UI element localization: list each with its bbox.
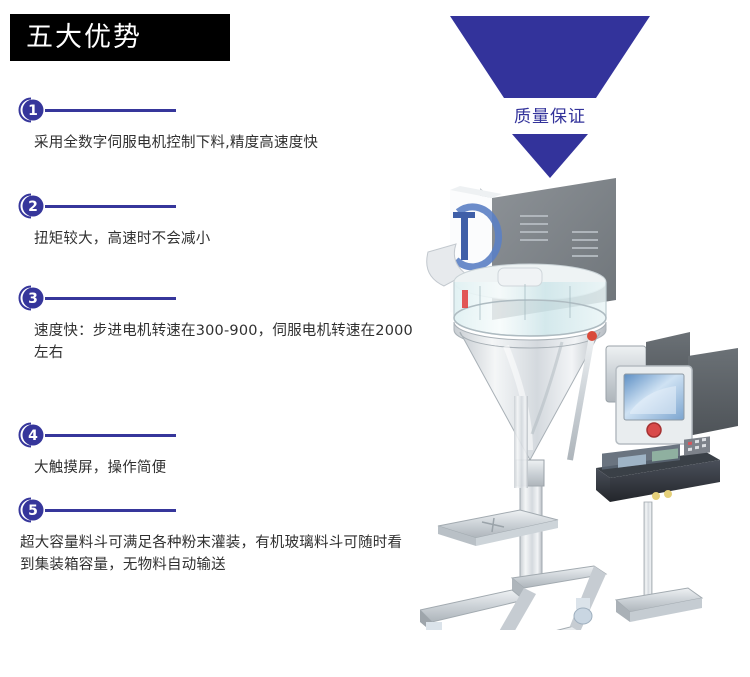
advantage-header-5: 5 bbox=[18, 496, 415, 526]
advantage-header-1: 1 bbox=[18, 96, 318, 126]
number-badge-1-icon: 1 bbox=[18, 96, 46, 124]
material-hopper bbox=[454, 264, 606, 336]
product-photo-powder-filling-machine bbox=[420, 160, 750, 630]
advantage-header-2: 2 bbox=[18, 192, 210, 222]
number-badge-5-icon: 5 bbox=[18, 496, 46, 524]
badge-number-4: 4 bbox=[28, 428, 38, 444]
badge-number-2: 2 bbox=[28, 199, 38, 215]
advantage-rule-1 bbox=[45, 109, 176, 112]
caster-wheel-icon bbox=[424, 622, 444, 630]
funnel-top-shape-icon bbox=[450, 16, 650, 98]
scale-pedestal bbox=[644, 502, 652, 602]
advantage-rule-4 bbox=[45, 434, 176, 437]
quality-funnel-badge: 质量保证 bbox=[450, 8, 650, 178]
advantage-text-3: 速度快：步进电机转速在300-900，伺服电机转速在2000左右 bbox=[34, 320, 424, 365]
weighing-scale bbox=[596, 436, 720, 622]
advantage-item-4: 4 大触摸屏，操作简便 bbox=[18, 421, 166, 479]
page-title: 五大优势 bbox=[10, 24, 142, 51]
advantage-text-2: 扭矩较大，高速时不会减小 bbox=[34, 228, 210, 250]
badge-number-3: 3 bbox=[28, 291, 38, 307]
badge-number-1: 1 bbox=[28, 103, 38, 119]
machine-illustration bbox=[420, 160, 750, 630]
badge-number-5: 5 bbox=[28, 503, 38, 519]
advantage-item-2: 2 扭矩较大，高速时不会减小 bbox=[18, 192, 210, 250]
hopper-level-marker bbox=[462, 290, 468, 308]
product-feature-banner: 五大优势 1 采用全数字伺服电机控制下料,精度高速度快 bbox=[0, 0, 750, 677]
caster-base bbox=[420, 566, 606, 630]
advantage-item-3: 3 速度快：步进电机转速在300-900，伺服电机转速在2000左右 bbox=[18, 284, 424, 365]
number-badge-3-icon: 3 bbox=[18, 284, 46, 312]
advantage-text-4: 大触摸屏，操作简便 bbox=[34, 457, 166, 479]
advantage-text-1: 采用全数字伺服电机控制下料,精度高速度快 bbox=[34, 132, 318, 154]
advantage-item-5: 5 超大容量料斗可满足各种粉末灌装，有机玻璃料斗可随时看到集装箱容量，无物料自动… bbox=[18, 496, 415, 577]
advantage-header-4: 4 bbox=[18, 421, 166, 451]
advantage-rule-3 bbox=[45, 297, 176, 300]
number-badge-2-icon: 2 bbox=[18, 192, 46, 220]
advantage-text-5: 超大容量料斗可满足各种粉末灌装，有机玻璃料斗可随时看到集装箱容量，无物料自动输送 bbox=[20, 532, 415, 577]
advantage-header-3: 3 bbox=[18, 284, 424, 314]
emergency-stop-button[interactable] bbox=[647, 423, 661, 437]
quality-assurance-label: 质量保证 bbox=[450, 102, 650, 127]
caster-wheel-icon bbox=[574, 598, 592, 624]
number-badge-4-icon: 4 bbox=[18, 421, 46, 449]
clamp-knob-icon bbox=[587, 331, 597, 341]
page-title-block: 五大优势 bbox=[10, 14, 230, 61]
scale-keypad-icon[interactable] bbox=[684, 436, 710, 455]
advantage-rule-5 bbox=[45, 509, 176, 512]
advantage-item-1: 1 采用全数字伺服电机控制下料,精度高速度快 bbox=[18, 96, 318, 154]
advantage-rule-2 bbox=[45, 205, 176, 208]
